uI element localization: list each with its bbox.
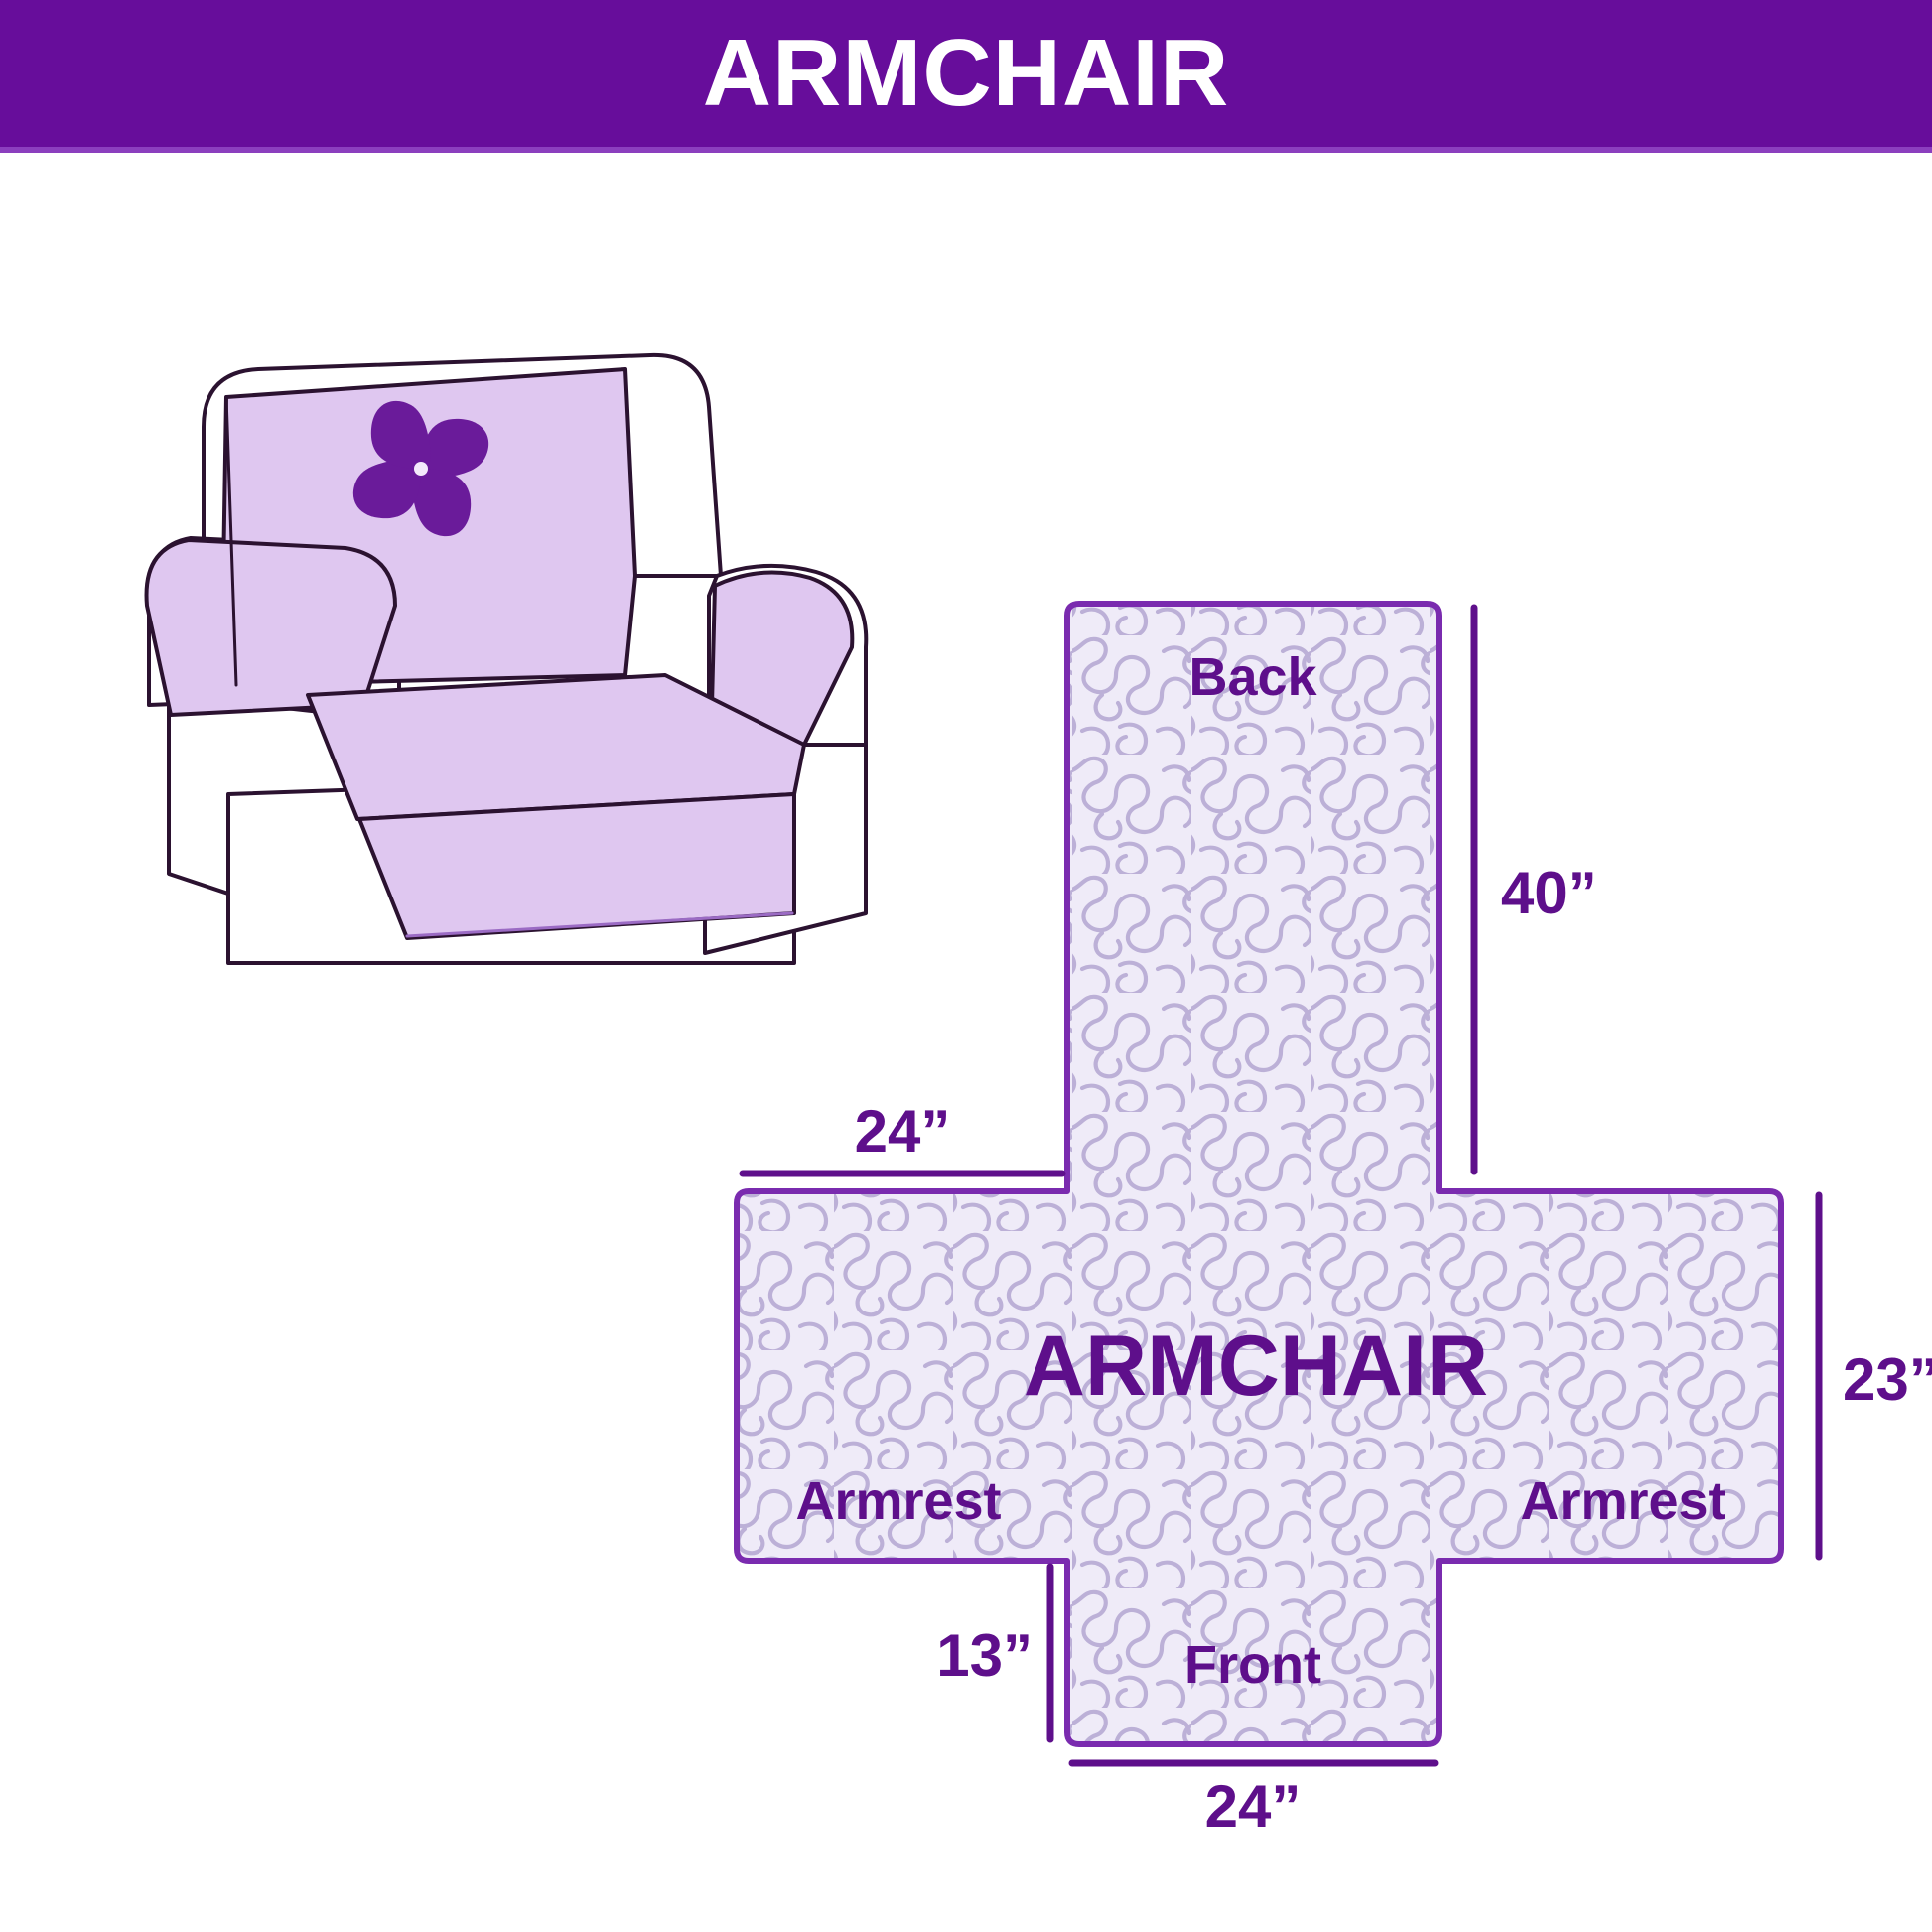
- dimension-label-24in-bottom: 24”: [1205, 1773, 1302, 1840]
- dimension-arm-bar-height: 23”: [1819, 1195, 1932, 1557]
- dimension-label-23in: 23”: [1843, 1346, 1932, 1413]
- dimension-label-13in: 13”: [936, 1622, 1033, 1689]
- dimension-label-24in-top: 24”: [855, 1098, 951, 1165]
- fan-pinwheel-icon: [353, 401, 488, 536]
- region-label-armrest-left: Armrest: [795, 1471, 1001, 1531]
- dimension-left-arm-width: 24”: [743, 1098, 1062, 1173]
- header-underline-divider: [0, 147, 1932, 153]
- region-label-back: Back: [1188, 647, 1317, 707]
- slipcover-left-arm-cover: [147, 540, 395, 715]
- dimension-front-height: 13”: [936, 1567, 1050, 1739]
- dimension-label-40in: 40”: [1501, 860, 1597, 926]
- header-banner: ARMCHAIR: [0, 0, 1932, 147]
- region-label-armchair-center: ARMCHAIR: [1024, 1318, 1488, 1414]
- dimension-front-width: 24”: [1072, 1763, 1435, 1840]
- region-label-armrest-right: Armrest: [1520, 1471, 1725, 1531]
- page-title: ARMCHAIR: [703, 26, 1230, 121]
- region-label-front: Front: [1184, 1635, 1321, 1695]
- slipcover-flat-diagram: Back ARMCHAIR Armrest Armrest Front 40” …: [596, 516, 1932, 1866]
- slipcover-diagram-panel: Back ARMCHAIR Armrest Armrest Front 40” …: [596, 516, 1932, 1866]
- dimension-back-height: 40”: [1474, 608, 1597, 1172]
